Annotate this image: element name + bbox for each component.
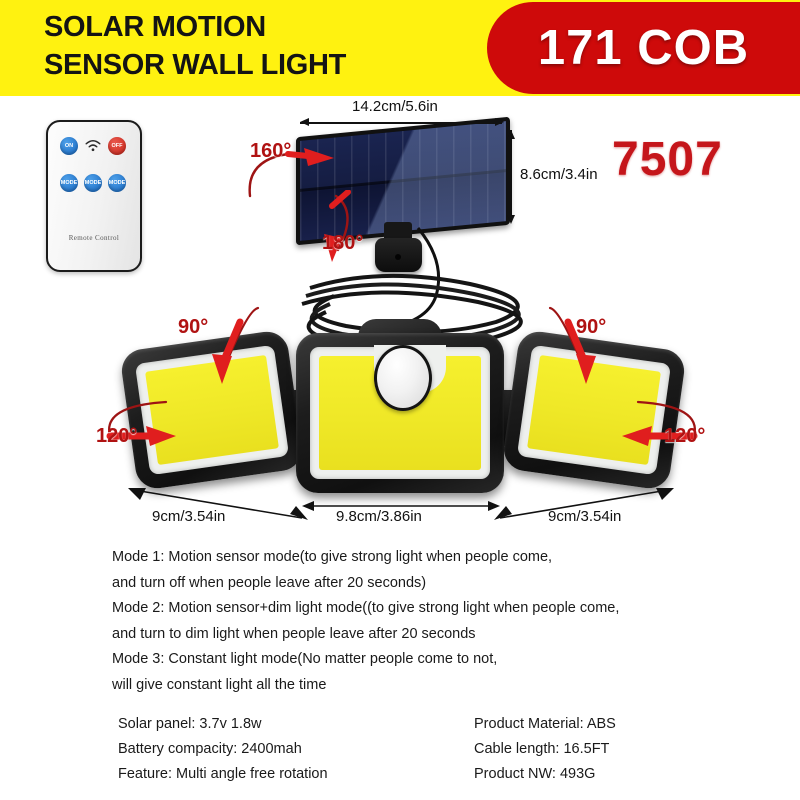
right-head-width-label: 9cm/3.54in xyxy=(548,508,621,525)
remote-mode1-button[interactable]: MODE xyxy=(60,174,78,192)
spec-material: Product Material: ABS xyxy=(474,712,616,737)
lamp-head-right xyxy=(501,329,687,491)
left-head-width-label: 9cm/3.54in xyxy=(152,508,225,525)
right-head-tilt-angle-label: 90° xyxy=(576,316,606,339)
title-line-2: SENSOR WALL LIGHT xyxy=(44,46,484,84)
spec-cable-length: Cable length: 16.5FT xyxy=(474,737,616,762)
remote-mode3-button[interactable]: MODE xyxy=(108,174,126,192)
spec-net-weight: Product NW: 493G xyxy=(474,762,616,787)
cob-count-badge: 171 COB xyxy=(487,2,800,94)
right-head-rotate-angle-label: 120° xyxy=(664,425,705,448)
remote-off-button[interactable]: OFF xyxy=(108,137,126,155)
mode-description-block: Mode 1: Motion sensor mode(to give stron… xyxy=(112,545,712,698)
head-bezel-right xyxy=(517,345,671,475)
mode-line-5: Mode 3: Constant light mode(No matter pe… xyxy=(112,647,712,673)
left-head-rotate-angle-label: 120° xyxy=(96,425,137,448)
panel-width-label: 14.2cm/5.6in xyxy=(352,98,438,115)
cob-count-label: 171 COB xyxy=(487,2,800,94)
cob-panel-left xyxy=(145,355,279,465)
lamp-head-left xyxy=(119,329,305,491)
left-head-tilt-angle-label: 90° xyxy=(178,316,208,339)
title-line-1: SOLAR MOTION xyxy=(44,8,484,46)
header-banner: SOLAR MOTION SENSOR WALL LIGHT 171 COB xyxy=(0,0,800,96)
spec-battery-capacity: Battery compacity: 2400mah xyxy=(118,737,328,762)
spec-solar-panel: Solar panel: 3.7v 1.8w xyxy=(118,712,328,737)
remote-mode2-button[interactable]: MODE xyxy=(84,174,102,192)
cob-panel-right xyxy=(527,355,661,465)
wifi-signal-icon xyxy=(84,138,102,154)
model-number: 7507 xyxy=(612,132,723,187)
spec-feature: Feature: Multi angle free rotation xyxy=(118,762,328,787)
mode-line-6: will give constant light all the time xyxy=(112,673,712,699)
remote-caption: Remote Control xyxy=(48,234,140,242)
panel-height-label: 8.6cm/3.4in xyxy=(520,166,598,183)
page-title: SOLAR MOTION SENSOR WALL LIGHT xyxy=(44,8,484,84)
spec-column-left: Solar panel: 3.7v 1.8w Battery compacity… xyxy=(118,712,328,787)
head-bezel-left xyxy=(135,345,289,475)
remote-control: ON OFF MODE MODE MODE Remote Control xyxy=(46,120,142,272)
panel-tilt-angle-label: 160° xyxy=(250,140,291,163)
remote-on-button[interactable]: ON xyxy=(60,137,78,155)
center-head-width-label: 9.8cm/3.86in xyxy=(336,508,422,525)
spec-column-right: Product Material: ABS Cable length: 16.5… xyxy=(474,712,616,787)
mode-line-1: Mode 1: Motion sensor mode(to give stron… xyxy=(112,545,712,571)
panel-width-arrows xyxy=(292,114,512,132)
mode-line-4: and turn to dim light when people leave … xyxy=(112,622,712,648)
lamp-head-center xyxy=(296,333,504,493)
product-infographic: SOLAR MOTION SENSOR WALL LIGHT 171 COB 7… xyxy=(0,0,800,800)
mode-line-3: Mode 2: Motion sensor+dim light mode((to… xyxy=(112,596,712,622)
motion-sensor-dome-icon xyxy=(374,345,432,411)
mode-line-2: and turn off when people leave after 20 … xyxy=(112,571,712,597)
